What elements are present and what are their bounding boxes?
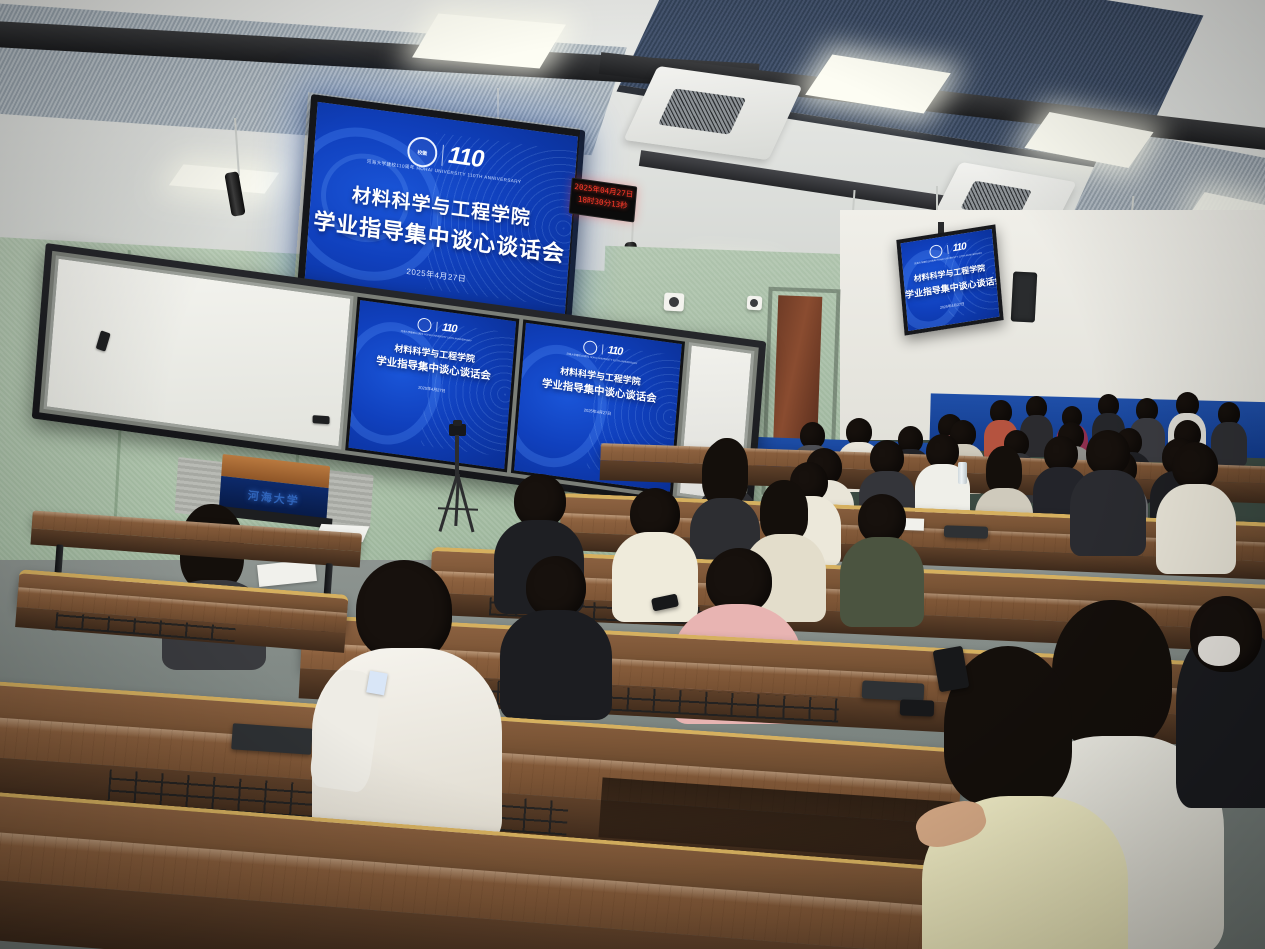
paper-in-hand[interactable] <box>366 671 388 696</box>
whiteboard-eraser[interactable] <box>313 415 330 424</box>
anniversary-number: 110 <box>447 144 484 173</box>
tablet-on-desk[interactable] <box>862 680 925 701</box>
anniversary-number: 110 <box>442 322 457 335</box>
wall-sensor-icon <box>664 292 685 311</box>
logo-divider <box>441 144 444 165</box>
seal-label: 校徽 <box>417 148 427 156</box>
secondary-display-left[interactable]: 110 河海大学建校110周年 HOHAI UNIVERSITY 110TH A… <box>345 297 519 473</box>
wall-sensor-icon <box>747 296 763 311</box>
lecture-hall-photo: 校徽 110 河海大学建校110周年 HOHAI UNIVERSITY 110T… <box>0 0 1265 949</box>
wall-speaker <box>1011 271 1038 322</box>
face-mask <box>1198 636 1240 666</box>
presentation-slide: 110 河海大学建校110周年 HOHAI UNIVERSITY 110TH A… <box>348 300 516 469</box>
audience-right-edge <box>1080 430 1265 630</box>
whiteboard-eraser[interactable] <box>96 330 111 351</box>
anniversary-number: 110 <box>952 242 966 254</box>
anniversary-number: 110 <box>607 345 622 358</box>
ac-grille-icon <box>658 88 746 134</box>
camera-tripod-column <box>455 435 459 479</box>
logo-divider <box>436 322 438 332</box>
logo-divider <box>946 245 948 254</box>
tablet-on-desk[interactable] <box>231 723 313 755</box>
presentation-slide: 110 河海大学建校110周年 HOHAI UNIVERSITY 110TH A… <box>901 229 1000 331</box>
logo-divider <box>601 344 603 354</box>
whiteboard[interactable] <box>44 255 354 449</box>
wall-mounted-display-right[interactable]: 110 河海大学建校110周年 HOHAI UNIVERSITY 110TH A… <box>896 224 1003 335</box>
